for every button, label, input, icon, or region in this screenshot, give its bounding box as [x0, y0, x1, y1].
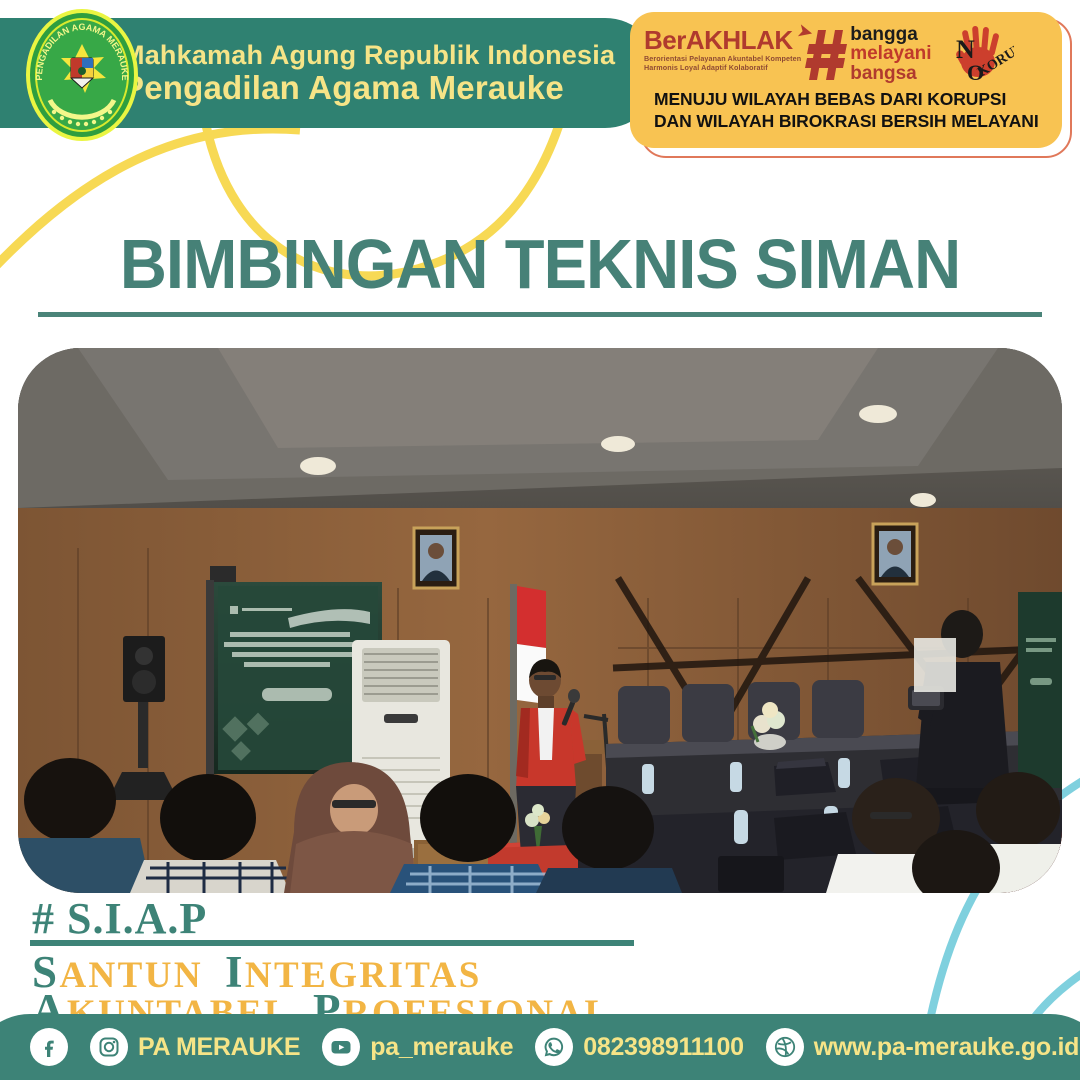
siap-hash-title: # S.I.A.P — [32, 893, 207, 944]
title-divider — [38, 312, 1042, 317]
melayani-line: melayani — [850, 44, 931, 63]
banner-slogan: MENUJU WILAYAH BEBAS DARI KORUPSI DAN WI… — [644, 88, 1048, 133]
footer-item-website[interactable]: www.pa-merauke.go.id — [766, 1014, 1079, 1080]
slogan-line-2: DAN WILAYAH BIROKRASI BERSIH MELAYANI — [654, 110, 1048, 132]
footer-label-youtube: pa_merauke — [370, 1033, 513, 1062]
footer-contacts: PA MERAUKE pa_merauke 082398911100 — [30, 1014, 1080, 1080]
header-court-name: Pengadilan Agama Merauke — [122, 71, 615, 106]
bangga-melayani-bangsa: bangga melayani bangsa — [850, 24, 931, 83]
berakhlak-values-line1: Berorientasi Pelayanan Akuntabel Kompete… — [644, 54, 801, 64]
berakhlak-banner: BerAKHLAK ➤ Berorientasi Pelayanan Akunt… — [630, 12, 1062, 148]
footer-item-youtube[interactable]: pa_merauke — [322, 1014, 513, 1080]
event-photo — [18, 348, 1062, 893]
hashtag-icon — [805, 26, 849, 84]
slogan-line-1: MENUJU WILAYAH BEBAS DARI KORUPSI — [654, 88, 1048, 110]
footer-label-instagram: PA MERAUKE — [138, 1033, 300, 1062]
berakhlak-values-line2: Harmonis Loyal Adaptif Kolaboratif — [644, 63, 801, 73]
footer-item-facebook[interactable] — [30, 1014, 68, 1080]
instagram-icon[interactable] — [90, 1028, 128, 1066]
footer-item-whatsapp[interactable]: 082398911100 — [535, 1014, 744, 1080]
footer-label-whatsapp: 082398911100 — [583, 1033, 744, 1062]
poster-canvas: Mahkamah Agung Republik Indonesia Pengad… — [0, 0, 1080, 1080]
event-photo-illustration — [18, 348, 1062, 893]
footer-item-instagram[interactable]: PA MERAUKE — [90, 1014, 300, 1080]
youtube-icon[interactable] — [322, 1028, 360, 1066]
whatsapp-icon[interactable] — [535, 1028, 573, 1066]
website-icon[interactable] — [766, 1028, 804, 1066]
header-text-group: Mahkamah Agung Republik Indonesia Pengad… — [122, 41, 615, 106]
page-title: BIMBINGAN TEKNIS SIMAN — [38, 224, 1042, 304]
no-korupsi-logo: N O KORUPSI — [934, 24, 1014, 86]
banner-logo-row: BerAKHLAK ➤ Berorientasi Pelayanan Akunt… — [644, 24, 1048, 86]
footer-label-website: www.pa-merauke.go.id — [814, 1033, 1079, 1062]
bangsa-line: bangsa — [850, 64, 931, 83]
court-seal-logo: PENGADILAN AGAMA MERAUKE — [24, 8, 140, 142]
facebook-icon[interactable] — [30, 1028, 68, 1066]
berakhlak-logo: BerAKHLAK ➤ Berorientasi Pelayanan Akunt… — [644, 24, 801, 73]
berakhlak-wordmark: BerAKHLAK ➤ — [644, 28, 801, 53]
header-institution-line: Mahkamah Agung Republik Indonesia — [122, 41, 615, 69]
bangga-line: bangga — [850, 25, 931, 44]
berakhlak-text: BerAKHLAK — [644, 25, 793, 55]
berakhlak-values: Berorientasi Pelayanan Akuntabel Kompete… — [644, 54, 801, 73]
